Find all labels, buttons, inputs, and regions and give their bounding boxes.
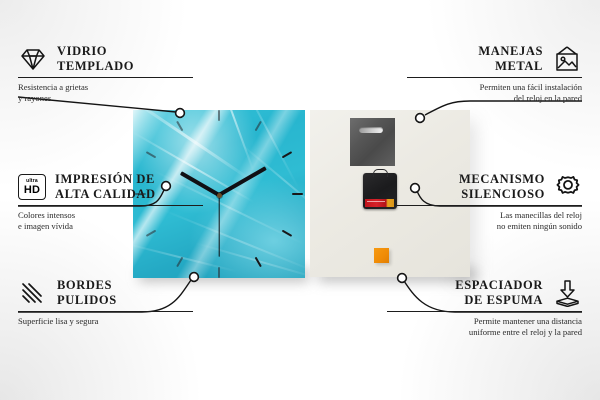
callout-espaciador-espuma: ESPACIADOR DE ESPUMA Permite mantener un… bbox=[387, 278, 582, 338]
callout-desc-line-1: Colores intensos bbox=[18, 210, 203, 221]
battery-label bbox=[365, 199, 394, 207]
callout-rule bbox=[407, 77, 582, 78]
callout-header: ESPACIADOR DE ESPUMA bbox=[387, 278, 582, 308]
polished-edges-icon bbox=[18, 280, 48, 306]
callout-title-line-2: SILENCIOSO bbox=[459, 187, 545, 202]
callout-title-line-2: METAL bbox=[478, 59, 543, 74]
callout-title-line-1: ESPACIADOR bbox=[455, 278, 543, 293]
callout-rule bbox=[18, 205, 203, 206]
callout-header: BORDES PULIDOS bbox=[18, 278, 193, 308]
callout-manejas-metal: MANEJAS METAL Permiten una fácil instala… bbox=[407, 44, 582, 104]
gear-icon bbox=[554, 174, 582, 201]
ultra-hd-icon: ultra HD bbox=[18, 174, 46, 200]
callout-rule bbox=[397, 205, 582, 206]
callout-mecanismo-silencioso: MECANISMO SILENCIOSO Las manecillas del … bbox=[397, 172, 582, 232]
callout-desc-line-1: Las manecillas del reloj bbox=[397, 210, 582, 221]
marker-manejas bbox=[416, 114, 425, 123]
callout-desc-line-1: Superficie lisa y segura bbox=[18, 316, 193, 327]
callout-rule bbox=[18, 311, 193, 312]
callout-title-line-1: MECANISMO bbox=[459, 172, 545, 187]
callout-title-line-1: VIDRIO bbox=[57, 44, 134, 59]
diamond-icon bbox=[18, 46, 48, 72]
callout-rule bbox=[387, 311, 582, 312]
marker-vidrio-templado bbox=[176, 109, 185, 118]
minute-hand bbox=[218, 166, 267, 196]
callout-title-line-2: TEMPLADO bbox=[57, 59, 134, 74]
callout-impresion-alta-calidad: ultra HD IMPRESIÓN DE ALTA CALIDAD Color… bbox=[18, 172, 203, 232]
callout-desc-line-2: no emiten ningún sonido bbox=[397, 221, 582, 232]
hanging-frame-icon bbox=[552, 46, 582, 73]
callout-header: VIDRIO TEMPLADO bbox=[18, 44, 193, 74]
callout-header: ultra HD IMPRESIÓN DE ALTA CALIDAD bbox=[18, 172, 203, 202]
callout-rule bbox=[18, 77, 193, 78]
metal-hanger-plate bbox=[350, 118, 395, 166]
callout-desc-line-1: Resistencia a grietas bbox=[18, 82, 193, 93]
callout-desc-line-2: y rayones bbox=[18, 93, 193, 104]
callout-title-line-2: ALTA CALIDAD bbox=[55, 187, 156, 202]
callout-title-line-1: BORDES bbox=[57, 278, 117, 293]
callout-header: MECANISMO SILENCIOSO bbox=[397, 172, 582, 202]
callout-desc-line-2: e imagen vívida bbox=[18, 221, 203, 232]
ultra-hd-icon-main-text: HD bbox=[24, 185, 40, 196]
callout-desc-line-1: Permiten una fácil instalación bbox=[407, 82, 582, 93]
callout-title-line-2: DE ESPUMA bbox=[455, 293, 543, 308]
callout-title-line-1: MANEJAS bbox=[478, 44, 543, 59]
second-hand bbox=[218, 195, 219, 257]
hand-pin bbox=[217, 193, 222, 198]
callout-bordes-pulidos: BORDES PULIDOS Superficie lisa y segura bbox=[18, 278, 193, 327]
mechanism-loop bbox=[373, 169, 388, 177]
infographic-root: VIDRIO TEMPLADO Resistencia a grietas y … bbox=[0, 0, 600, 400]
callout-title-line-1: IMPRESIÓN DE bbox=[55, 172, 156, 187]
callout-title-line-2: PULIDOS bbox=[57, 293, 117, 308]
callout-desc-line-2: uniforme entre el reloj y la pared bbox=[387, 327, 582, 338]
callout-desc-line-2: del reloj en la pared bbox=[407, 93, 582, 104]
clock-mechanism bbox=[363, 173, 397, 209]
foam-spacer bbox=[374, 248, 389, 263]
ultra-hd-icon-top-text: ultra bbox=[26, 179, 38, 184]
callout-desc-line-1: Permite mantener una distancia bbox=[387, 316, 582, 327]
callout-header: MANEJAS METAL bbox=[407, 44, 582, 74]
foam-spacer-icon bbox=[552, 279, 582, 307]
callout-vidrio-templado: VIDRIO TEMPLADO Resistencia a grietas y … bbox=[18, 44, 193, 104]
hanger-slot bbox=[359, 127, 383, 133]
